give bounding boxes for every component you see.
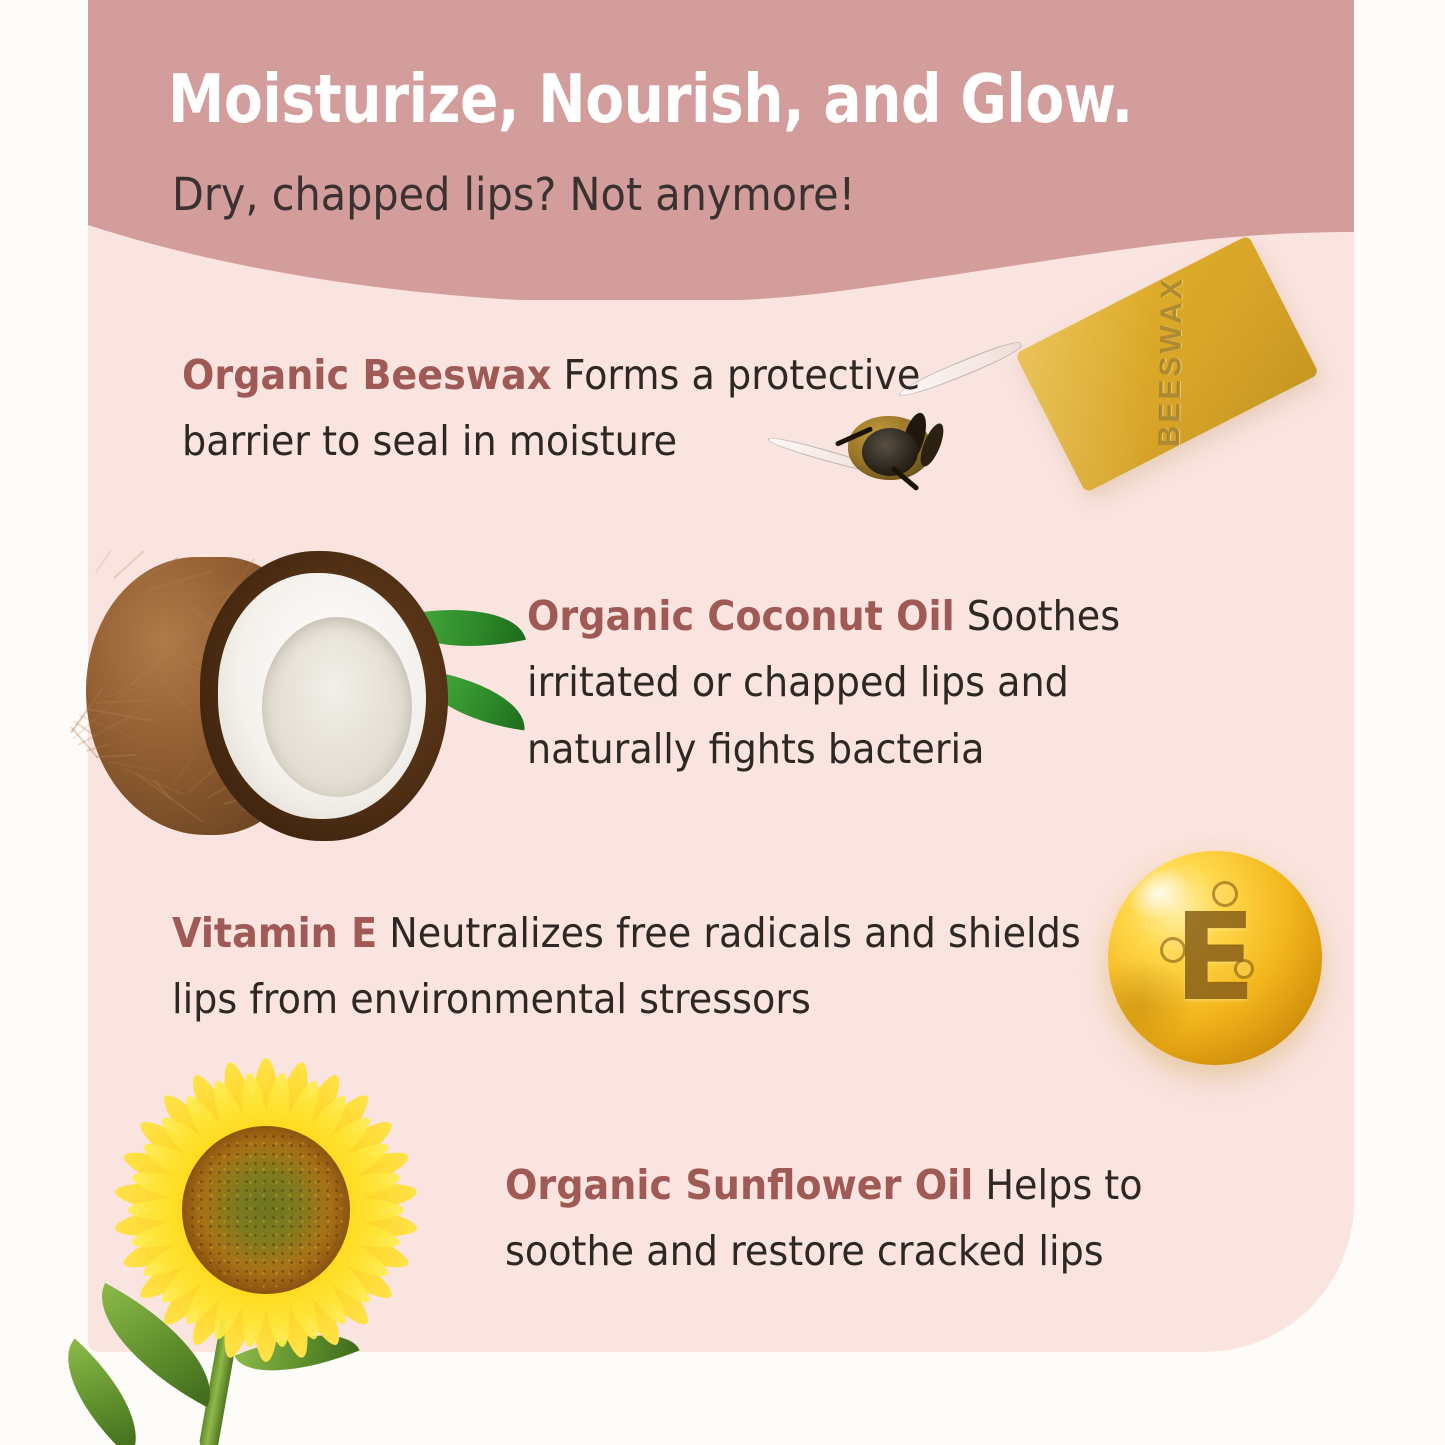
page-subtitle: Dry, chapped lips? Not anymore! [172, 168, 855, 221]
sunflower-head [106, 1050, 426, 1370]
ingredient-name: Vitamin E [172, 909, 377, 957]
beeswax-bar-shape: BEESWAX [1015, 235, 1319, 493]
coconut-fiber [113, 550, 144, 578]
ingredient-name: Organic Coconut Oil [527, 592, 955, 640]
ingredient-name: Organic Sunflower Oil [505, 1161, 973, 1209]
sunflower-disc [182, 1126, 350, 1294]
coconut-fiber [147, 570, 213, 591]
capsule-bubble [1212, 881, 1238, 907]
beeswax-bar-label: BEESWAX [1153, 276, 1190, 448]
coconut-fiber [131, 557, 179, 585]
ingredient-beeswax: Organic Beeswax Forms a protective barri… [182, 342, 1056, 475]
sunflower-icon [70, 1042, 490, 1445]
coconut-fiber [153, 780, 172, 801]
page-title: Moisturize, Nourish, and Glow. [168, 62, 1240, 137]
coconut-fiber [96, 753, 136, 757]
coconut-icon [78, 545, 528, 857]
coconut-fiber [95, 550, 112, 572]
coconut-cavity [262, 617, 412, 797]
capsule-letter: E [1108, 851, 1322, 1065]
coconut-half [200, 551, 448, 841]
coconut-fiber [171, 753, 196, 787]
coconut-fiber [168, 666, 202, 691]
ingredient-sunflower-oil: Organic Sunflower Oil Helps to soothe an… [505, 1152, 1249, 1285]
capsule-sphere: E [1108, 851, 1322, 1065]
ingredient-coconut-oil: Organic Coconut Oil Soothes irritated or… [527, 583, 1234, 782]
infographic-canvas: Moisturize, Nourish, and Glow. Dry, chap… [0, 0, 1445, 1445]
coconut-fiber [95, 699, 149, 704]
coconut-fiber [176, 601, 202, 607]
ingredient-vitamin-e: Vitamin E Neutralizes free radicals and … [172, 900, 1111, 1033]
vitamin-e-capsule-icon: E [1098, 843, 1338, 1083]
beeswax-bar-icon: BEESWAX [1018, 252, 1318, 512]
coconut-flesh [218, 573, 426, 819]
capsule-bubble [1160, 937, 1186, 963]
ingredient-name: Organic Beeswax [182, 351, 551, 399]
capsule-bubble [1234, 959, 1254, 979]
coconut-fiber [108, 761, 162, 772]
